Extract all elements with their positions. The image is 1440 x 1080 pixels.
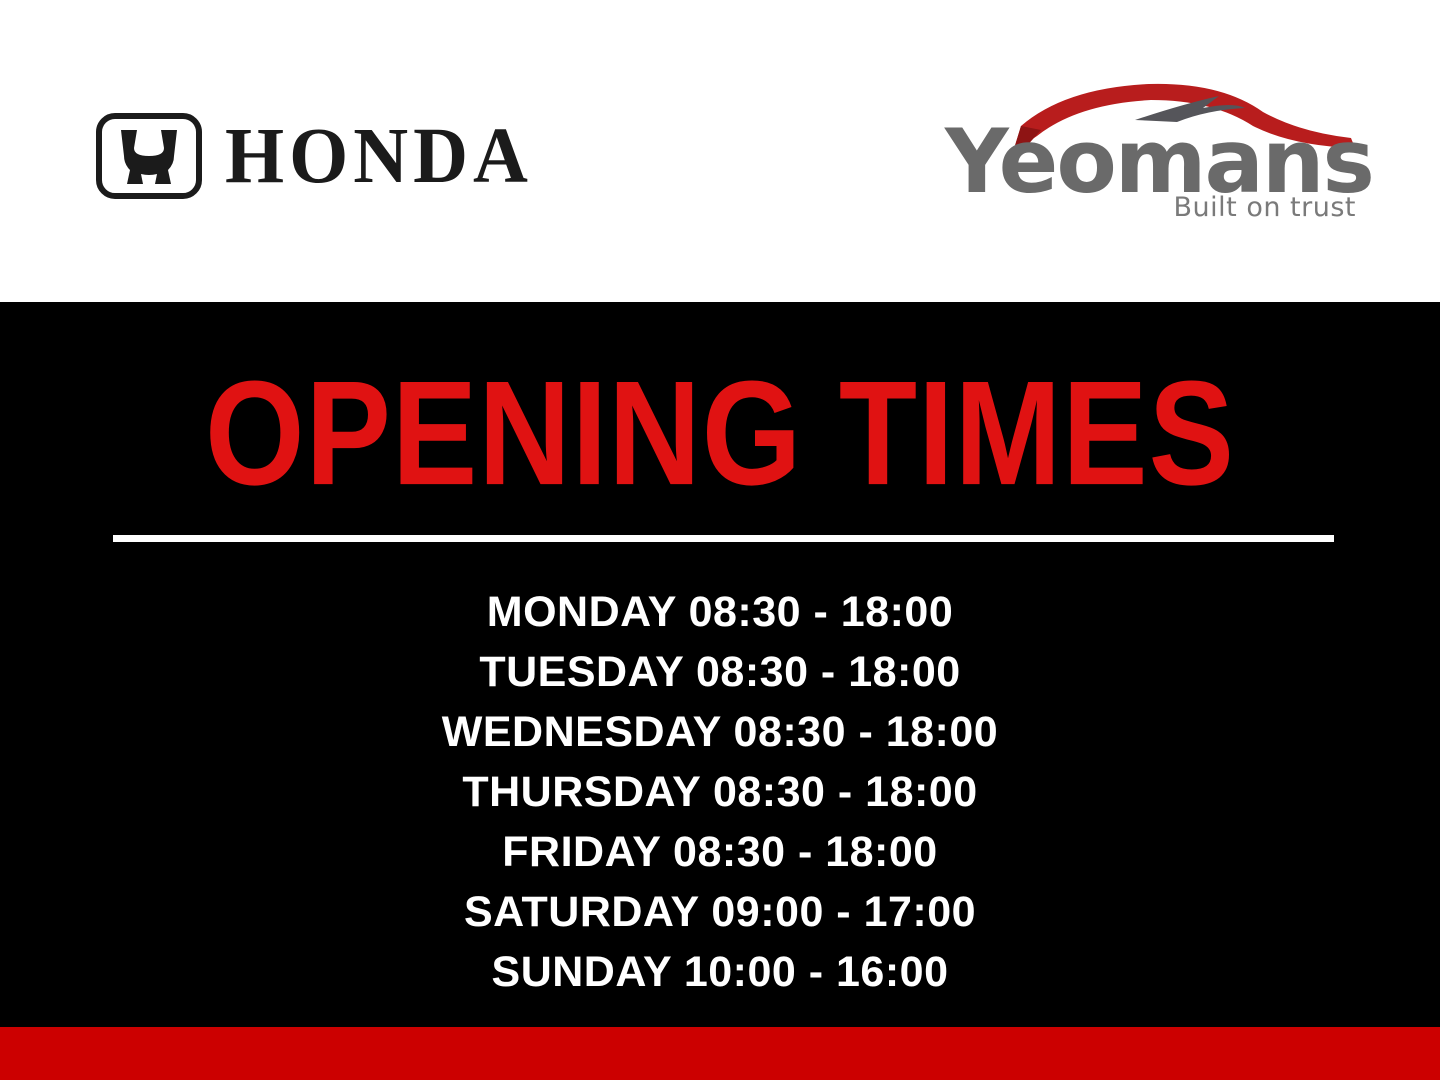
hours-row: SUNDAY 10:00 - 16:00: [0, 942, 1440, 1002]
yeomans-logo: Yeomans Built on trust: [945, 74, 1360, 229]
honda-logo: HONDA: [95, 112, 533, 200]
honda-h-emblem-icon: [95, 112, 203, 200]
title-divider: [113, 535, 1334, 542]
content-panel: OPENING TIMES MONDAY 08:30 - 18:00 TUESD…: [0, 302, 1440, 1027]
page-title: OPENING TIMES: [0, 360, 1440, 508]
hours-row: WEDNESDAY 08:30 - 18:00: [0, 702, 1440, 762]
hours-row: THURSDAY 08:30 - 18:00: [0, 762, 1440, 822]
hours-row: MONDAY 08:30 - 18:00: [0, 582, 1440, 642]
hours-row: SATURDAY 09:00 - 17:00: [0, 882, 1440, 942]
footer-accent-band: [0, 1027, 1440, 1080]
hours-row: FRIDAY 08:30 - 18:00: [0, 822, 1440, 882]
opening-times-poster: HONDA Yeomans Built on trust OPENING TIM…: [0, 0, 1440, 1080]
yeomans-tagline: Built on trust: [1174, 194, 1356, 221]
honda-wordmark: HONDA: [225, 116, 533, 195]
opening-hours-list: MONDAY 08:30 - 18:00 TUESDAY 08:30 - 18:…: [0, 582, 1440, 1002]
header-band: HONDA Yeomans Built on trust: [0, 0, 1440, 302]
hours-row: TUESDAY 08:30 - 18:00: [0, 642, 1440, 702]
